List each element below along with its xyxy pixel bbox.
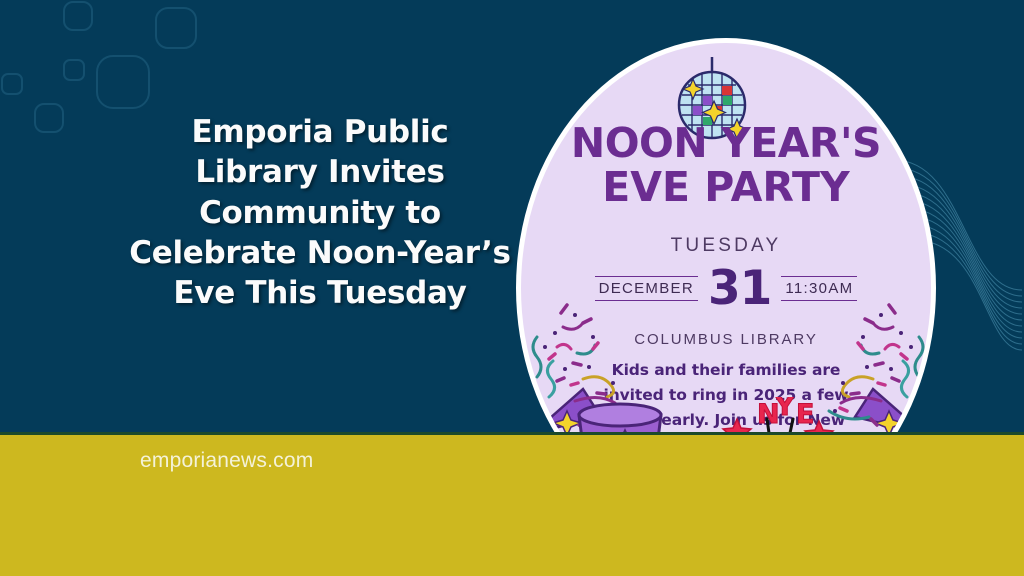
page-title: Emporia Public Library Invites Community…: [120, 112, 520, 313]
headline-line-2: Library Invites: [120, 152, 520, 192]
poster-weekday: TUESDAY: [521, 235, 931, 257]
headline-line-1: Emporia Public: [120, 112, 520, 152]
headline-line-5: Eve This Tuesday: [120, 273, 520, 313]
svg-text:E: E: [796, 399, 814, 430]
poster-day-number: 31: [708, 265, 771, 312]
svg-text:Y: Y: [774, 397, 795, 422]
poster-title: NOON YEAR'S EVE PARTY: [521, 121, 931, 210]
poster-title-line-1: NOON YEAR'S: [521, 121, 931, 165]
headline-line-3: Community to: [120, 193, 520, 233]
headline-line-4: Celebrate Noon-Year’s: [120, 233, 520, 273]
site-url: emporianews.com: [140, 449, 313, 473]
poster-title-line-2: EVE PARTY: [521, 165, 931, 209]
